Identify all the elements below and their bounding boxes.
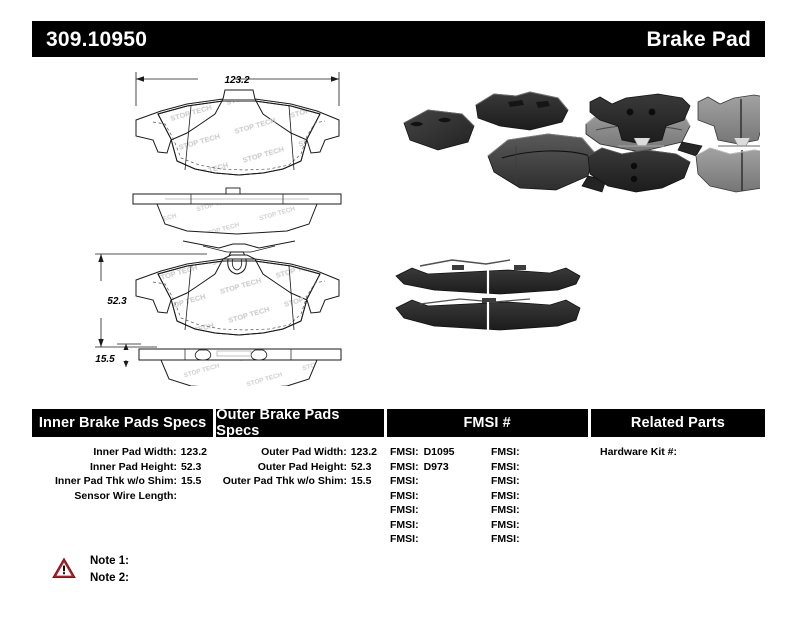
column-header-inner-specs: Inner Brake Pads Specs — [32, 409, 213, 437]
fmsi-value — [419, 503, 424, 518]
fmsi-label: FMSI: — [390, 532, 419, 547]
fmsi-label: FMSI: — [491, 460, 520, 475]
part-number: 309.10950 — [46, 29, 147, 50]
fmsi-value — [419, 518, 424, 533]
header-bar: 309.10950 Brake Pad — [32, 21, 765, 57]
fmsi-value — [419, 532, 424, 547]
spec-label: Outer Pad Width: — [261, 445, 347, 460]
dimension-width-label: 123.2 — [224, 75, 249, 86]
fmsi-row: FMSI: — [491, 532, 588, 547]
fmsi-row: FMSI: D973 — [390, 460, 487, 475]
notes-text: Note 1: Note 2: — [90, 553, 129, 587]
table-header-row: Inner Brake Pads Specs Outer Brake Pads … — [32, 409, 765, 437]
dimension-thickness — [117, 344, 141, 367]
spec-value: 52.3 — [347, 460, 377, 475]
fmsi-subcolumn-1: FMSI: D1095 FMSI: D973 FMSI: FMSI: FMSI: — [386, 445, 487, 547]
fmsi-row: FMSI: — [390, 503, 487, 518]
related-parts-column: Hardware Kit #: — [591, 445, 765, 547]
fmsi-label: FMSI: — [390, 474, 419, 489]
specification-table: Inner Brake Pads Specs Outer Brake Pads … — [32, 409, 765, 547]
spec-value: 15.5 — [177, 474, 207, 489]
fmsi-label: FMSI: — [390, 489, 419, 504]
technical-drawings: STOP TECH STOP TECH — [95, 66, 395, 386]
spec-value: 123.2 — [347, 445, 377, 460]
drawing-face-view-main — [95, 254, 339, 347]
fmsi-row: FMSI: — [491, 474, 588, 489]
product-title: Brake Pad — [646, 29, 751, 50]
fmsi-row: FMSI: — [390, 518, 487, 533]
fmsi-row: FMSI: — [491, 445, 588, 460]
brake-pad-photos — [390, 80, 760, 370]
fmsi-value: D1095 — [419, 445, 455, 460]
spec-value: 123.2 — [177, 445, 207, 460]
fmsi-row: FMSI: — [491, 518, 588, 533]
fmsi-value — [520, 518, 525, 533]
fmsi-subcolumn-2: FMSI: FMSI: FMSI: FMSI: FMSI: — [487, 445, 588, 547]
fmsi-label: FMSI: — [491, 474, 520, 489]
warning-triangle-icon — [52, 557, 76, 579]
drawing-face-view-top — [136, 72, 339, 175]
fmsi-row: FMSI: — [491, 503, 588, 518]
fmsi-label: FMSI: — [390, 460, 419, 475]
column-header-fmsi: FMSI # — [387, 409, 588, 437]
fmsi-row: FMSI: — [390, 474, 487, 489]
dimension-height-label: 52.3 — [107, 296, 127, 307]
fmsi-value — [419, 489, 424, 504]
fmsi-row: FMSI: — [390, 489, 487, 504]
note-line-2: Note 2: — [90, 570, 129, 587]
fmsi-value — [419, 474, 424, 489]
spec-label: Inner Pad Width: — [93, 445, 176, 460]
table-body: Inner Pad Width: 123.2 Inner Pad Height:… — [32, 437, 765, 547]
fmsi-row: FMSI: D1095 — [390, 445, 487, 460]
fmsi-label: FMSI: — [491, 445, 520, 460]
fmsi-value — [520, 445, 525, 460]
fmsi-label: FMSI: — [491, 489, 520, 504]
drawing-edge-view-upper — [133, 188, 341, 234]
fmsi-value — [520, 474, 525, 489]
fmsi-row: FMSI: — [491, 460, 588, 475]
fmsi-value — [520, 532, 525, 547]
outer-specs-column: Outer Pad Width: 123.2 Outer Pad Height:… — [216, 445, 383, 547]
spec-row: Sensor Wire Length: — [32, 489, 213, 504]
spec-row: Inner Pad Thk w/o Shim: 15.5 — [32, 474, 213, 489]
fmsi-label: FMSI: — [390, 445, 419, 460]
fmsi-row: FMSI: — [491, 489, 588, 504]
spec-label: Inner Pad Height: — [90, 460, 177, 475]
spec-label: Sensor Wire Length: — [74, 489, 177, 504]
fmsi-row: FMSI: — [390, 532, 487, 547]
fmsi-label: FMSI: — [491, 518, 520, 533]
drawing-edge-view-lower — [117, 344, 341, 386]
spec-row: Inner Pad Width: 123.2 — [32, 445, 213, 460]
fmsi-label: FMSI: — [390, 503, 419, 518]
fmsi-column: FMSI: D1095 FMSI: D973 FMSI: FMSI: FMSI: — [386, 445, 588, 547]
fmsi-value — [520, 489, 525, 504]
spec-label: Outer Pad Height: — [258, 460, 347, 475]
fmsi-value — [520, 503, 525, 518]
spec-label: Outer Pad Thk w/o Shim: — [223, 474, 347, 489]
note-line-1: Note 1: — [90, 553, 129, 570]
spec-row: Outer Pad Thk w/o Shim: 15.5 — [216, 474, 383, 489]
fmsi-value — [520, 460, 525, 475]
column-header-outer-specs: Outer Brake Pads Specs — [216, 409, 383, 437]
column-header-related-parts: Related Parts — [591, 409, 765, 437]
spec-value: 15.5 — [347, 474, 377, 489]
brake-pad-line-drawings: STOP TECH STOP TECH — [95, 66, 395, 386]
spec-row: Outer Pad Width: 123.2 — [216, 445, 383, 460]
dimension-thickness-label: 15.5 — [95, 354, 115, 365]
notes-section: Note 1: Note 2: — [52, 553, 129, 587]
photo-group-edge-pads — [396, 260, 580, 330]
fmsi-value: D973 — [419, 460, 449, 475]
fmsi-label: FMSI: — [491, 503, 520, 518]
fmsi-label: FMSI: — [390, 518, 419, 533]
inner-specs-column: Inner Pad Width: 123.2 Inner Pad Height:… — [32, 445, 213, 547]
spec-value: 52.3 — [177, 460, 207, 475]
product-photographs — [390, 80, 760, 370]
spec-row: Outer Pad Height: 52.3 — [216, 460, 383, 475]
related-part-row: Hardware Kit #: — [591, 445, 765, 460]
spec-label: Inner Pad Thk w/o Shim: — [55, 474, 177, 489]
spec-row: Inner Pad Height: 52.3 — [32, 460, 213, 475]
fmsi-label: FMSI: — [491, 532, 520, 547]
